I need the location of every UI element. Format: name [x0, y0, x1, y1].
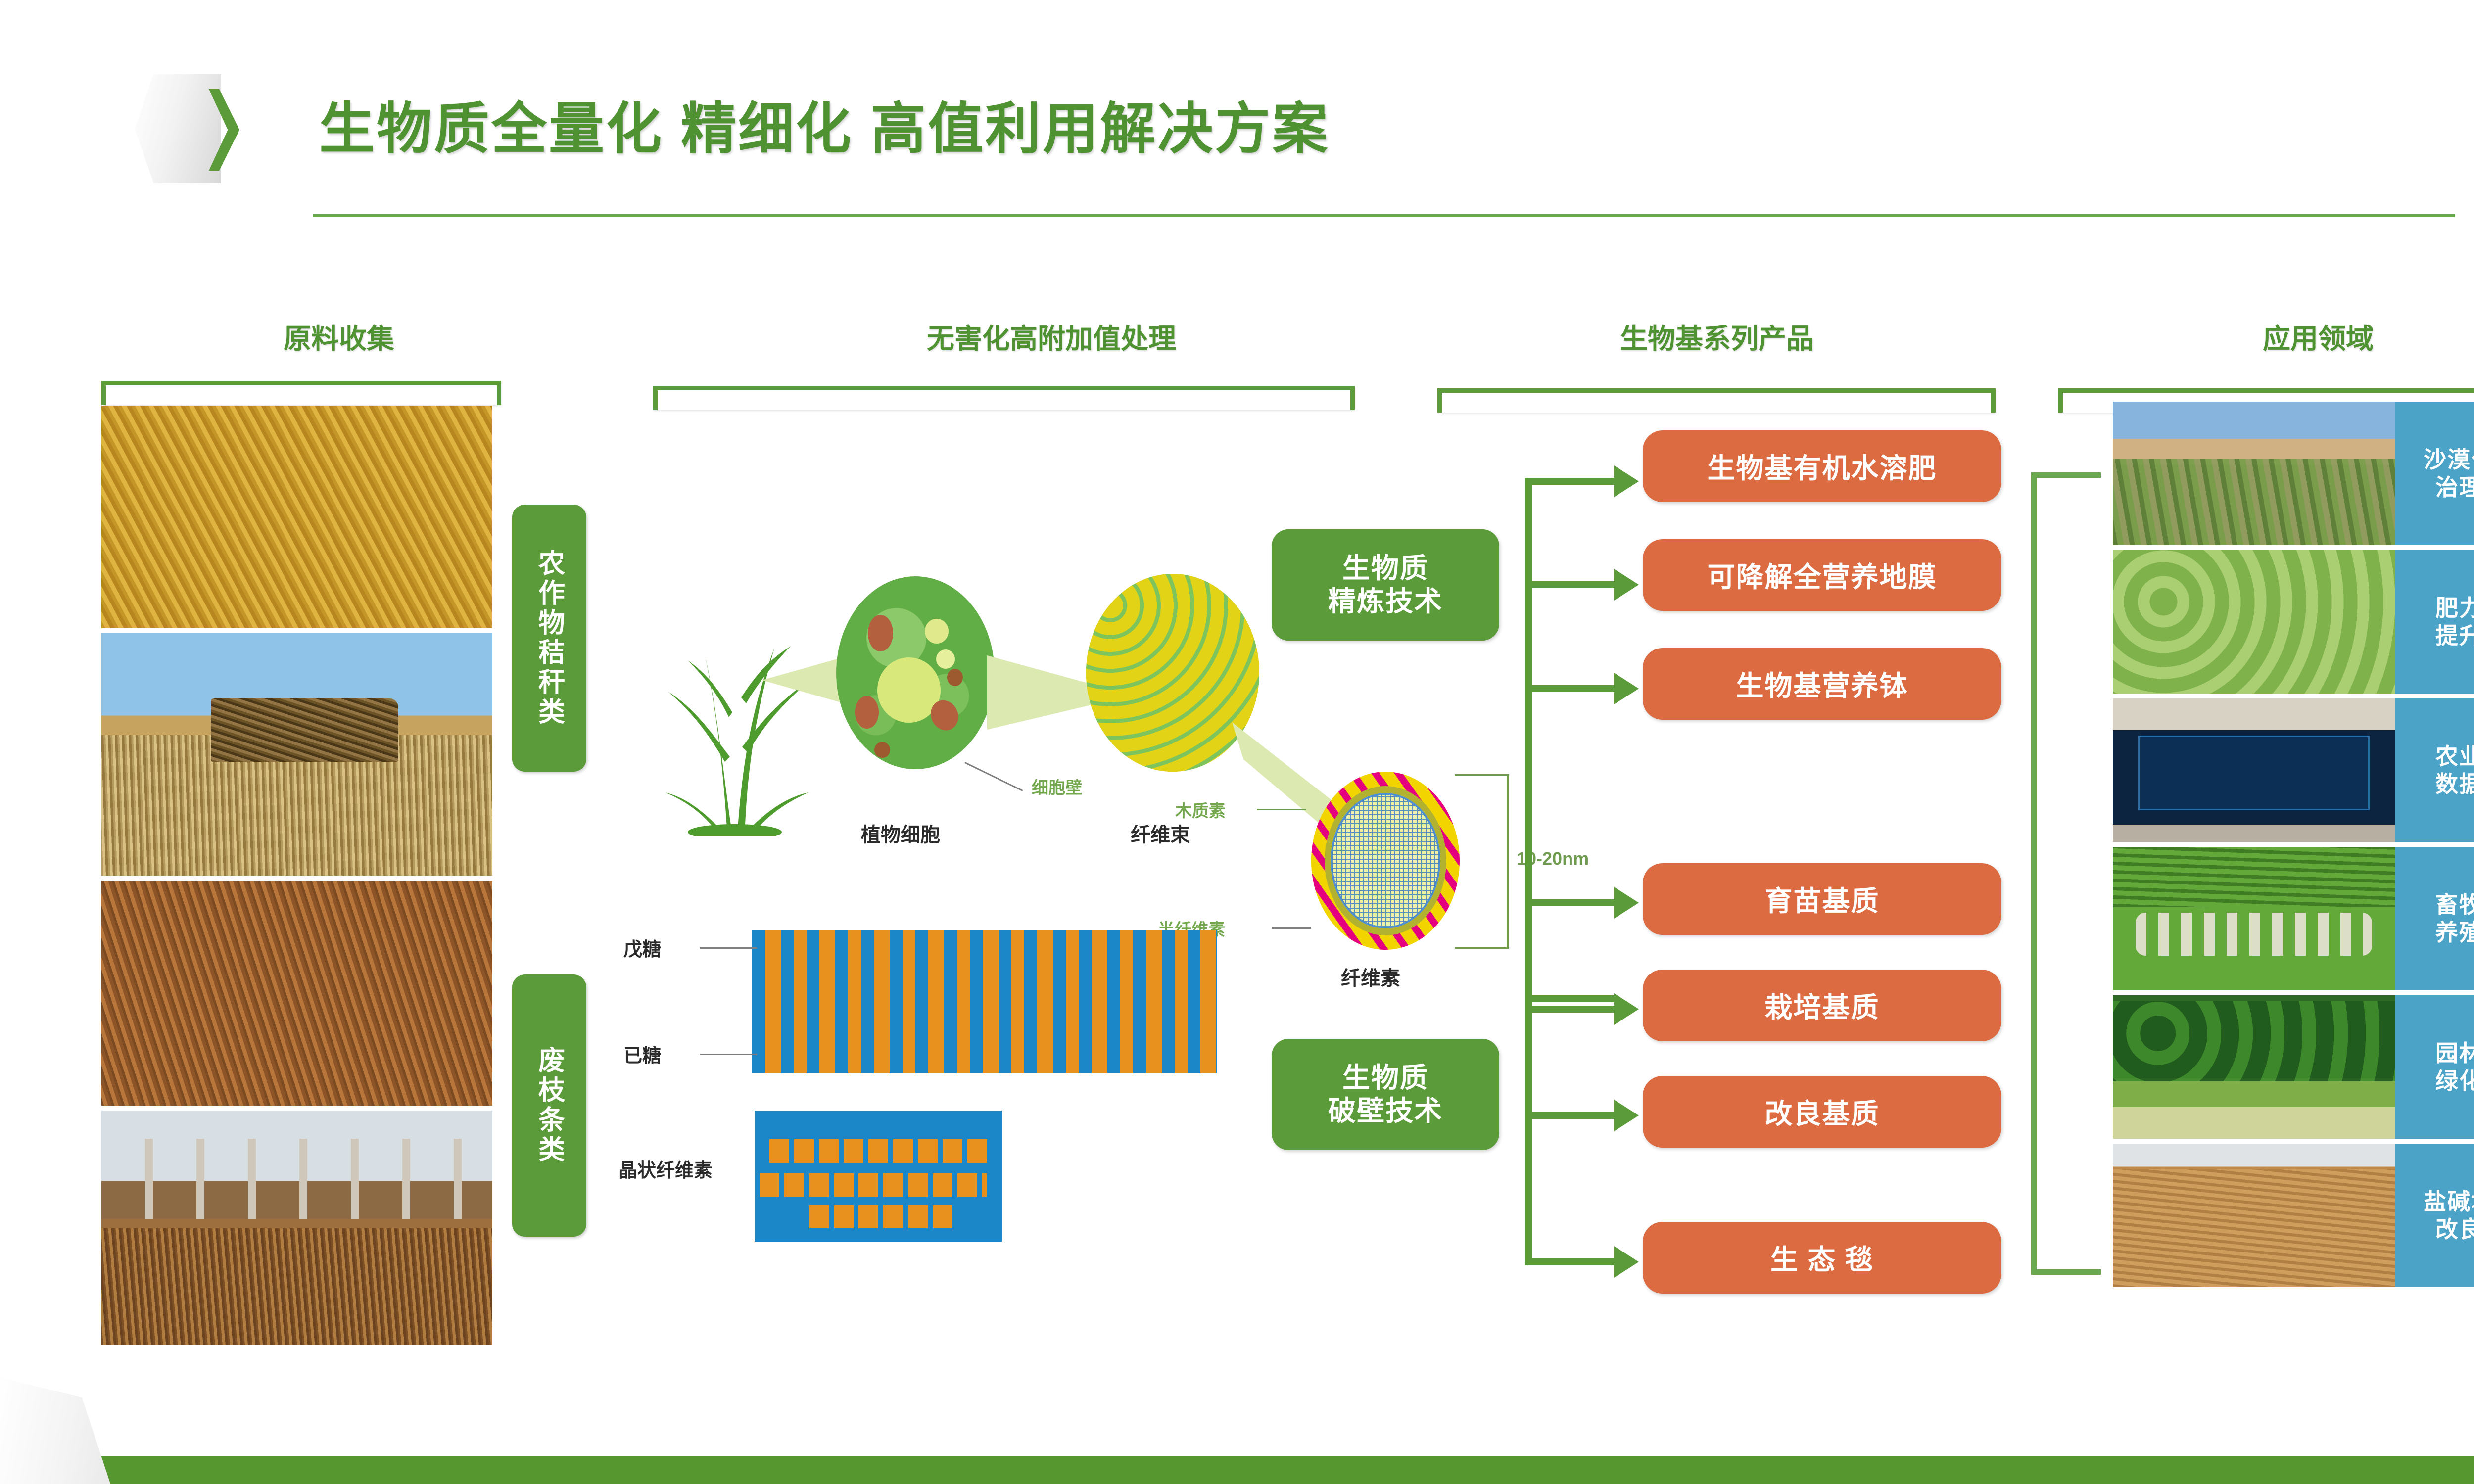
label-lignin: 木质素 [1175, 797, 1226, 822]
arrow-refining-1 [1614, 465, 1639, 497]
tech-box-refining[interactable]: 生物质 精炼技术 [1272, 529, 1499, 641]
app-fertility-line2: 提升 [2435, 622, 2474, 649]
product-box-water-soluble-fertilizer[interactable]: 生物基有机水溶肥 [1643, 430, 2001, 502]
label-fiber-bundle: 纤维束 [1131, 819, 1190, 847]
product-box-nutrient-pot[interactable]: 生物基营养钵 [1643, 648, 2001, 720]
saline-soil-photo [2113, 1144, 2395, 1287]
arrow-wall-4 [1614, 1246, 1639, 1278]
crystalline-cellulose-illustration [755, 1111, 1002, 1242]
desert-greening-photo [2113, 402, 2395, 545]
app-data-line2: 数据 [2435, 770, 2474, 798]
hemicellulose-leader [1272, 927, 1311, 929]
lignin-leader [1257, 809, 1306, 810]
fiber-bundle-illustration [1086, 574, 1259, 772]
label-hexose: 已糖 [623, 1040, 661, 1067]
straw-bale-field-photo [101, 633, 492, 876]
application-tag-livestock[interactable]: 畜牧 养殖 [2395, 847, 2474, 990]
cellulose-fibril-cross-section [1311, 772, 1460, 950]
product-box-cultivation-substrate[interactable]: 栽培基质 [1643, 970, 2001, 1041]
section-bracket-products [1437, 388, 1996, 413]
connector-branch-refining-3 [1525, 995, 1614, 1002]
title-bar: 生物质全量化 精细化 高值利用解决方案 [0, 0, 2474, 148]
dimension-tick-bottom [1455, 947, 1509, 949]
title-underline-rule [313, 214, 2455, 217]
arrow-refining-3 [1614, 673, 1639, 704]
pentose-leader [700, 947, 757, 949]
category-label-waste-branches: 废枝条类 [512, 974, 586, 1237]
raw-material-photo-column [101, 406, 492, 1345]
connector-branch-wall-3 [1525, 1112, 1614, 1119]
data-center-photo [2113, 698, 2395, 842]
application-tag-fertility[interactable]: 肥力 提升 [2395, 550, 2474, 694]
application-tag-desertification[interactable]: 沙漠化 治理 [2395, 402, 2474, 545]
section-header-raw-material: 原料收集 [171, 317, 507, 357]
section-header-applications: 应用领域 [2113, 317, 2474, 357]
connector-branch-refining-3b [1525, 685, 1614, 692]
tech-box-wall-breaking[interactable]: 生物质 破壁技术 [1272, 1039, 1499, 1150]
footer-bar [0, 1456, 2474, 1484]
application-row-saline-soil[interactable]: 盐碱地 改良 [2113, 1144, 2474, 1287]
app-desert-line1: 沙漠化 [2424, 446, 2474, 473]
corn-straw-field-photo [101, 406, 492, 628]
app-saline-line1: 盐碱地 [2424, 1188, 2474, 1215]
arrow-wall-3 [1614, 1100, 1639, 1131]
vineyard-pruning-photo [101, 1111, 492, 1345]
app-livestock-line2: 养殖 [2435, 919, 2474, 946]
app-landscape-line1: 园林 [2435, 1039, 2474, 1067]
page-title: 生物质全量化 精细化 高值利用解决方案 [319, 84, 1330, 164]
lettuce-field-photo [2113, 550, 2395, 694]
section-bracket-processing [653, 386, 1355, 410]
app-data-line1: 农业 [2435, 742, 2474, 770]
application-tag-agri-data[interactable]: 农业 数据 [2395, 698, 2474, 842]
arrow-refining-2 [1614, 569, 1639, 601]
app-landscape-line2: 绿化 [2435, 1067, 2474, 1095]
application-row-agri-data[interactable]: 农业 数据 [2113, 698, 2474, 842]
application-row-landscaping[interactable]: 园林 绿化 [2113, 995, 2474, 1139]
hexagon-grey-shape [135, 74, 221, 183]
connector-branch-refining-2 [1525, 581, 1614, 588]
connector-branch-refining-1 [1525, 478, 1614, 485]
product-box-ecological-blanket[interactable]: 生 态 毯 [1643, 1222, 2001, 1294]
sugar-chain-illustration [752, 930, 1217, 1073]
application-row-livestock[interactable]: 畜牧 养殖 [2113, 847, 2474, 990]
arrow-wall-1 [1614, 887, 1639, 919]
hexagon-badge-icon [135, 74, 248, 183]
app-livestock-line1: 畜牧 [2435, 891, 2474, 919]
app-fertility-line1: 肥力 [2435, 594, 2474, 622]
section-header-products: 生物基系列产品 [1437, 317, 1997, 357]
application-tag-saline-soil[interactable]: 盐碱地 改良 [2395, 1144, 2474, 1287]
tech-wallbreaking-line2: 破壁技术 [1328, 1095, 1443, 1127]
sheep-grazing-photo [2113, 847, 2395, 990]
application-row-desertification[interactable]: 沙漠化 治理 [2113, 402, 2474, 545]
application-column: 沙漠化 治理 肥力 提升 农业 数据 畜牧 养殖 园林 绿化 [2113, 402, 2474, 1292]
dimension-line [1507, 774, 1509, 948]
application-tag-landscaping[interactable]: 园林 绿化 [2395, 995, 2474, 1139]
tech-refining-line2: 精炼技术 [1328, 585, 1443, 618]
product-box-improvement-substrate[interactable]: 改良基质 [1643, 1076, 2001, 1148]
label-pentose: 戊糖 [623, 934, 661, 961]
park-trees-photo [2113, 995, 2395, 1139]
hexose-leader [700, 1054, 757, 1055]
app-saline-line2: 改良 [2435, 1215, 2474, 1243]
label-crystalline-cellulose: 晶状纤维素 [618, 1155, 713, 1182]
tech-wallbreaking-line1: 生物质 [1342, 1062, 1428, 1094]
label-cell-wall: 细胞壁 [1032, 774, 1082, 798]
connector-trunk-wallbreaking [1525, 899, 1532, 1265]
plant-cell-illustration [836, 576, 995, 769]
grass-plant-icon [658, 549, 826, 836]
connector-branch-wall-4 [1525, 1258, 1614, 1265]
app-desert-line2: 治理 [2435, 473, 2474, 501]
dry-branches-photo [101, 881, 492, 1106]
arrow-wall-2 [1614, 993, 1639, 1025]
dimension-tick-top [1455, 774, 1509, 776]
connector-branch-wall-2 [1525, 1006, 1614, 1013]
section-header-processing: 无害化高附加值处理 [646, 317, 1457, 357]
section-bracket-raw-material [101, 381, 501, 405]
connector-branch-wall-1 [1525, 899, 1614, 906]
label-cellulose: 纤维素 [1341, 962, 1400, 991]
applications-bracket [2031, 472, 2101, 1275]
product-box-seedling-substrate[interactable]: 育苗基质 [1643, 863, 2001, 935]
tech-refining-line1: 生物质 [1342, 552, 1428, 585]
label-plant-cell: 植物细胞 [861, 819, 940, 847]
product-box-biodegradable-mulch-film[interactable]: 可降解全营养地膜 [1643, 539, 2001, 611]
category-label-crop-straw: 农作物秸秆类 [512, 505, 586, 772]
application-row-fertility[interactable]: 肥力 提升 [2113, 550, 2474, 694]
